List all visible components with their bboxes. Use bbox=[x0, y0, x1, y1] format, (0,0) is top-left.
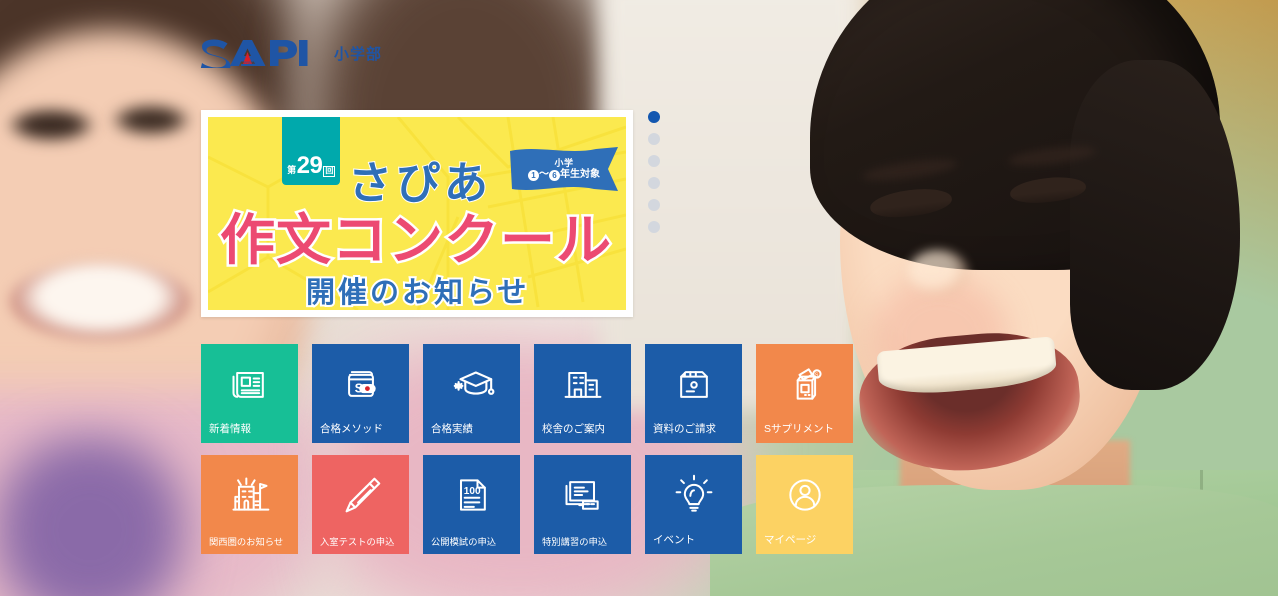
tile-building[interactable]: 校舎のご案内 bbox=[534, 344, 631, 443]
wallet-s-icon: S bbox=[312, 358, 409, 410]
tile-label: 校舎のご案内 bbox=[542, 424, 605, 436]
carousel-pagination[interactable] bbox=[648, 111, 660, 233]
tile-label: 資料のご請求 bbox=[653, 424, 716, 436]
tile-screen-card[interactable]: 特別講習の申込 bbox=[534, 455, 631, 554]
carousel-dot-5[interactable] bbox=[648, 199, 660, 211]
building-icon bbox=[534, 358, 631, 410]
banner-title-main: 作文コンクール bbox=[220, 195, 612, 275]
issue-number: 29 bbox=[297, 154, 323, 178]
svg-text:S: S bbox=[814, 373, 818, 379]
quick-link-tile-grid: 新着情報 S 合格メソッド 合格実績 校舎のご案内 資料のご請求 SSサプリメン… bbox=[201, 344, 853, 554]
tile-label: 合格メソッド bbox=[320, 424, 383, 436]
issue-suffix: 回 bbox=[323, 166, 335, 177]
tile-wallet-s[interactable]: S 合格メソッド bbox=[312, 344, 409, 443]
tile-label: 公開模試の申込 bbox=[431, 537, 496, 547]
tile-pencil[interactable]: 入室テストの申込 bbox=[312, 455, 409, 554]
grade-from: 1 bbox=[528, 170, 539, 181]
carousel-dot-2[interactable] bbox=[648, 133, 660, 145]
grade-range-sep: 〜 bbox=[539, 169, 549, 180]
tile-label: 合格実績 bbox=[431, 424, 473, 436]
sapix-wordmark-icon: PRESS bbox=[200, 38, 318, 68]
envelope-doc-icon bbox=[645, 358, 742, 410]
newspaper-icon bbox=[201, 358, 298, 410]
score-100-icon: 100 bbox=[423, 469, 520, 521]
grade-target-flag: 小学 1〜6年生対象 bbox=[508, 145, 620, 197]
svg-text:100: 100 bbox=[463, 486, 480, 497]
lightbulb-icon bbox=[645, 469, 742, 521]
tile-label: 新着情報 bbox=[209, 424, 251, 436]
flag-line-1: 小学 bbox=[554, 158, 573, 168]
carousel-dot-3[interactable] bbox=[648, 155, 660, 167]
logo-subtitle: 小学部 bbox=[334, 43, 382, 64]
tile-supplement[interactable]: SSサプリメント bbox=[756, 344, 853, 443]
tile-newspaper[interactable]: 新着情報 bbox=[201, 344, 298, 443]
banner-title-sub: 開催のお知らせ bbox=[306, 269, 529, 310]
flag-line-2: 1〜6年生対象 bbox=[528, 169, 600, 181]
carousel-dot-1[interactable] bbox=[648, 111, 660, 123]
grade-to: 6 bbox=[549, 170, 560, 181]
supplement-icon: S bbox=[756, 358, 853, 410]
issue-number-badge: 第 29 回 bbox=[282, 117, 340, 185]
tile-envelope-doc[interactable]: 資料のご請求 bbox=[645, 344, 742, 443]
site-logo[interactable]: PRESS 小学部 bbox=[200, 38, 382, 68]
graduation-cap-icon bbox=[423, 358, 520, 410]
tile-lightbulb[interactable]: イベント bbox=[645, 455, 742, 554]
tile-school-flag[interactable]: 関西圏のお知らせ bbox=[201, 455, 298, 554]
page-root: PRESS 小学部 bbox=[0, 0, 1278, 596]
carousel-dot-4[interactable] bbox=[648, 177, 660, 189]
school-flag-icon bbox=[201, 469, 298, 521]
tile-user-circle[interactable]: マイページ bbox=[756, 455, 853, 554]
svg-text:PRESS: PRESS bbox=[244, 61, 257, 65]
tile-label: 入室テストの申込 bbox=[320, 537, 394, 547]
flag-tail: 年生対象 bbox=[560, 169, 600, 180]
tile-label: Sサプリメント bbox=[764, 424, 834, 436]
tile-label: 関西圏のお知らせ bbox=[209, 537, 283, 547]
user-circle-icon bbox=[756, 469, 853, 521]
screen-card-icon bbox=[534, 469, 631, 521]
tile-label: イベント bbox=[653, 535, 695, 547]
issue-prefix: 第 bbox=[287, 163, 296, 176]
hero-banner-slide[interactable]: 第 29 回 さぴあ 作文コンクール 作文コンクール 開催のお知らせ 小学 1〜… bbox=[201, 110, 633, 317]
pencil-icon bbox=[312, 469, 409, 521]
tile-score-100[interactable]: 100公開模試の申込 bbox=[423, 455, 520, 554]
tile-label: マイページ bbox=[764, 535, 816, 547]
tile-graduation-cap[interactable]: 合格実績 bbox=[423, 344, 520, 443]
carousel-dot-6[interactable] bbox=[648, 221, 660, 233]
tile-label: 特別講習の申込 bbox=[542, 537, 607, 547]
